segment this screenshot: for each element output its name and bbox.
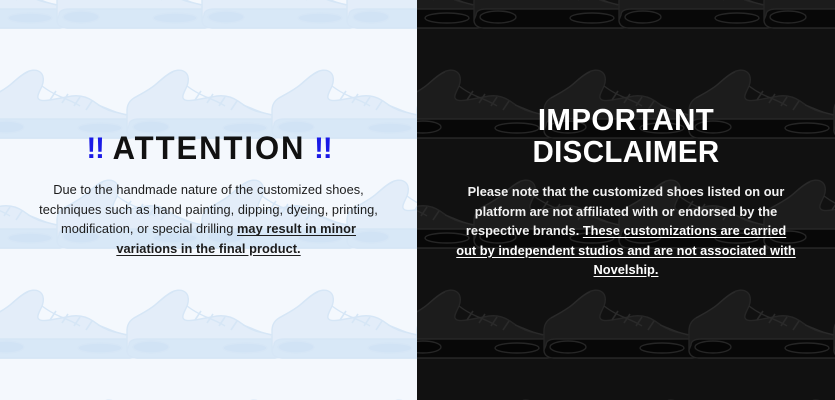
attention-content: !!ATTENTION!! Due to the handmade nature… [39,132,379,268]
attention-heading: !!ATTENTION!! [44,132,374,166]
attention-panel: !!ATTENTION!! Due to the handmade nature… [0,0,417,400]
disclaimer-body: Please note that the customized shoes li… [456,182,796,279]
disclaimer-heading-line2: DISCLAIMER [465,136,788,168]
exclamation-left-icon: !! [86,132,103,165]
attention-title: ATTENTION [112,130,305,166]
attention-body: Due to the handmade nature of the custom… [39,180,379,258]
disclaimer-content: IMPORTANT DISCLAIMER Please note that th… [456,104,796,295]
disclaimer-heading-line1: IMPORTANT [465,104,788,136]
disclaimer-banner: !!ATTENTION!! Due to the handmade nature… [0,0,835,400]
disclaimer-panel: IMPORTANT DISCLAIMER Please note that th… [417,0,835,400]
exclamation-right-icon: !! [314,132,331,165]
disclaimer-heading: IMPORTANT DISCLAIMER [465,104,788,168]
